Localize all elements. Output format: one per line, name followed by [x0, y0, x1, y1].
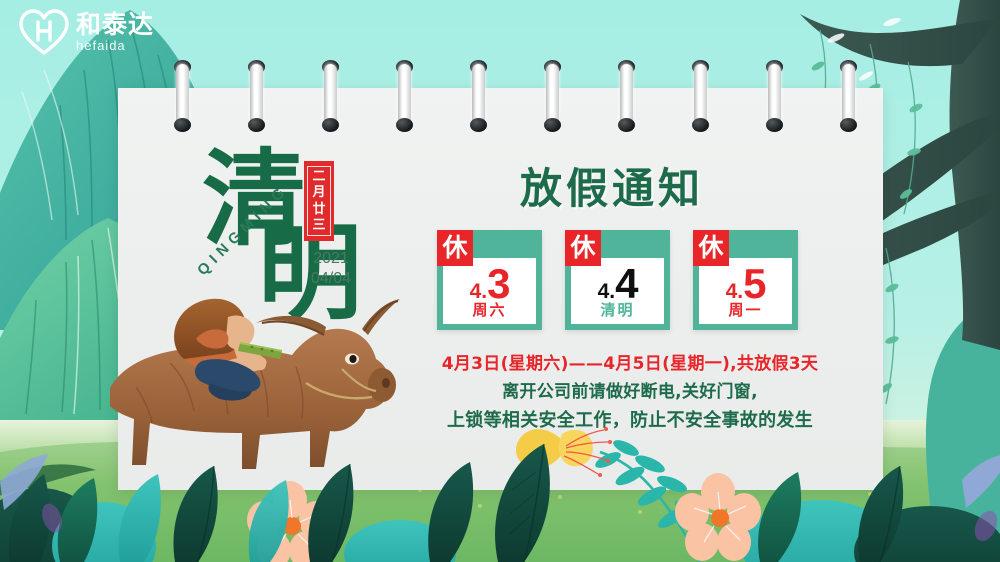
spiral-ring	[542, 58, 562, 134]
holiday-date-card: 休4.4清明	[565, 230, 670, 330]
holiday-date-card: 休4.5周一	[693, 230, 798, 330]
ring-cap-bottom	[470, 118, 487, 132]
spiral-ring	[172, 58, 192, 134]
spiral-binding	[0, 58, 1000, 134]
notice-line-2: 离开公司前请做好断电,关好门窗,	[395, 378, 865, 406]
seal-char: 三	[312, 219, 325, 232]
ring-cap-bottom	[692, 118, 709, 132]
poster-canvas: 和泰达 hefaida 清 明 QINGMING 二月廿三 2021 04/04…	[0, 0, 1000, 562]
ring-cap-bottom	[248, 118, 265, 132]
seal-char: 二	[312, 170, 325, 183]
spiral-ring	[394, 58, 414, 134]
rest-day-badge: 休	[693, 230, 729, 266]
notice-line-1: 4月3日(星期六)——4月5日(星期一),共放假3天	[395, 350, 865, 378]
ring-cap-bottom	[396, 118, 413, 132]
holiday-date-card: 休4.3周六	[437, 230, 542, 330]
spiral-ring	[690, 58, 710, 134]
spiral-ring	[838, 58, 858, 134]
seal-char: 廿	[312, 203, 325, 216]
ring-cap-bottom	[840, 118, 857, 132]
heart-h-logo-icon	[18, 8, 70, 56]
spiral-ring	[320, 58, 340, 134]
peach-flower-right	[675, 473, 761, 561]
foreground-foliage	[0, 422, 1000, 562]
notice-heading: 放假通知	[520, 155, 704, 216]
ring-cap-bottom	[544, 118, 561, 132]
ring-cap-bottom	[766, 118, 783, 132]
seal-char: 月	[312, 186, 325, 199]
card-label: 周一	[693, 299, 798, 320]
lunar-date-seal: 二月廿三	[304, 161, 334, 241]
spiral-ring	[468, 58, 488, 134]
brand-logo: 和泰达 hefaida	[18, 8, 154, 56]
brand-name-cn: 和泰达	[76, 12, 154, 37]
card-label: 清明	[565, 299, 670, 320]
rest-day-badge: 休	[565, 230, 601, 266]
spiral-ring	[764, 58, 784, 134]
holiday-date-cards: 休4.3周六休4.4清明休4.5周一	[437, 230, 798, 330]
spiral-ring	[246, 58, 266, 134]
brand-name-en: hefaida	[76, 39, 154, 52]
rest-day-badge: 休	[437, 230, 473, 266]
ring-cap-bottom	[618, 118, 635, 132]
card-label: 周六	[437, 299, 542, 320]
spiral-ring	[616, 58, 636, 134]
ring-cap-bottom	[322, 118, 339, 132]
ring-cap-bottom	[174, 118, 191, 132]
